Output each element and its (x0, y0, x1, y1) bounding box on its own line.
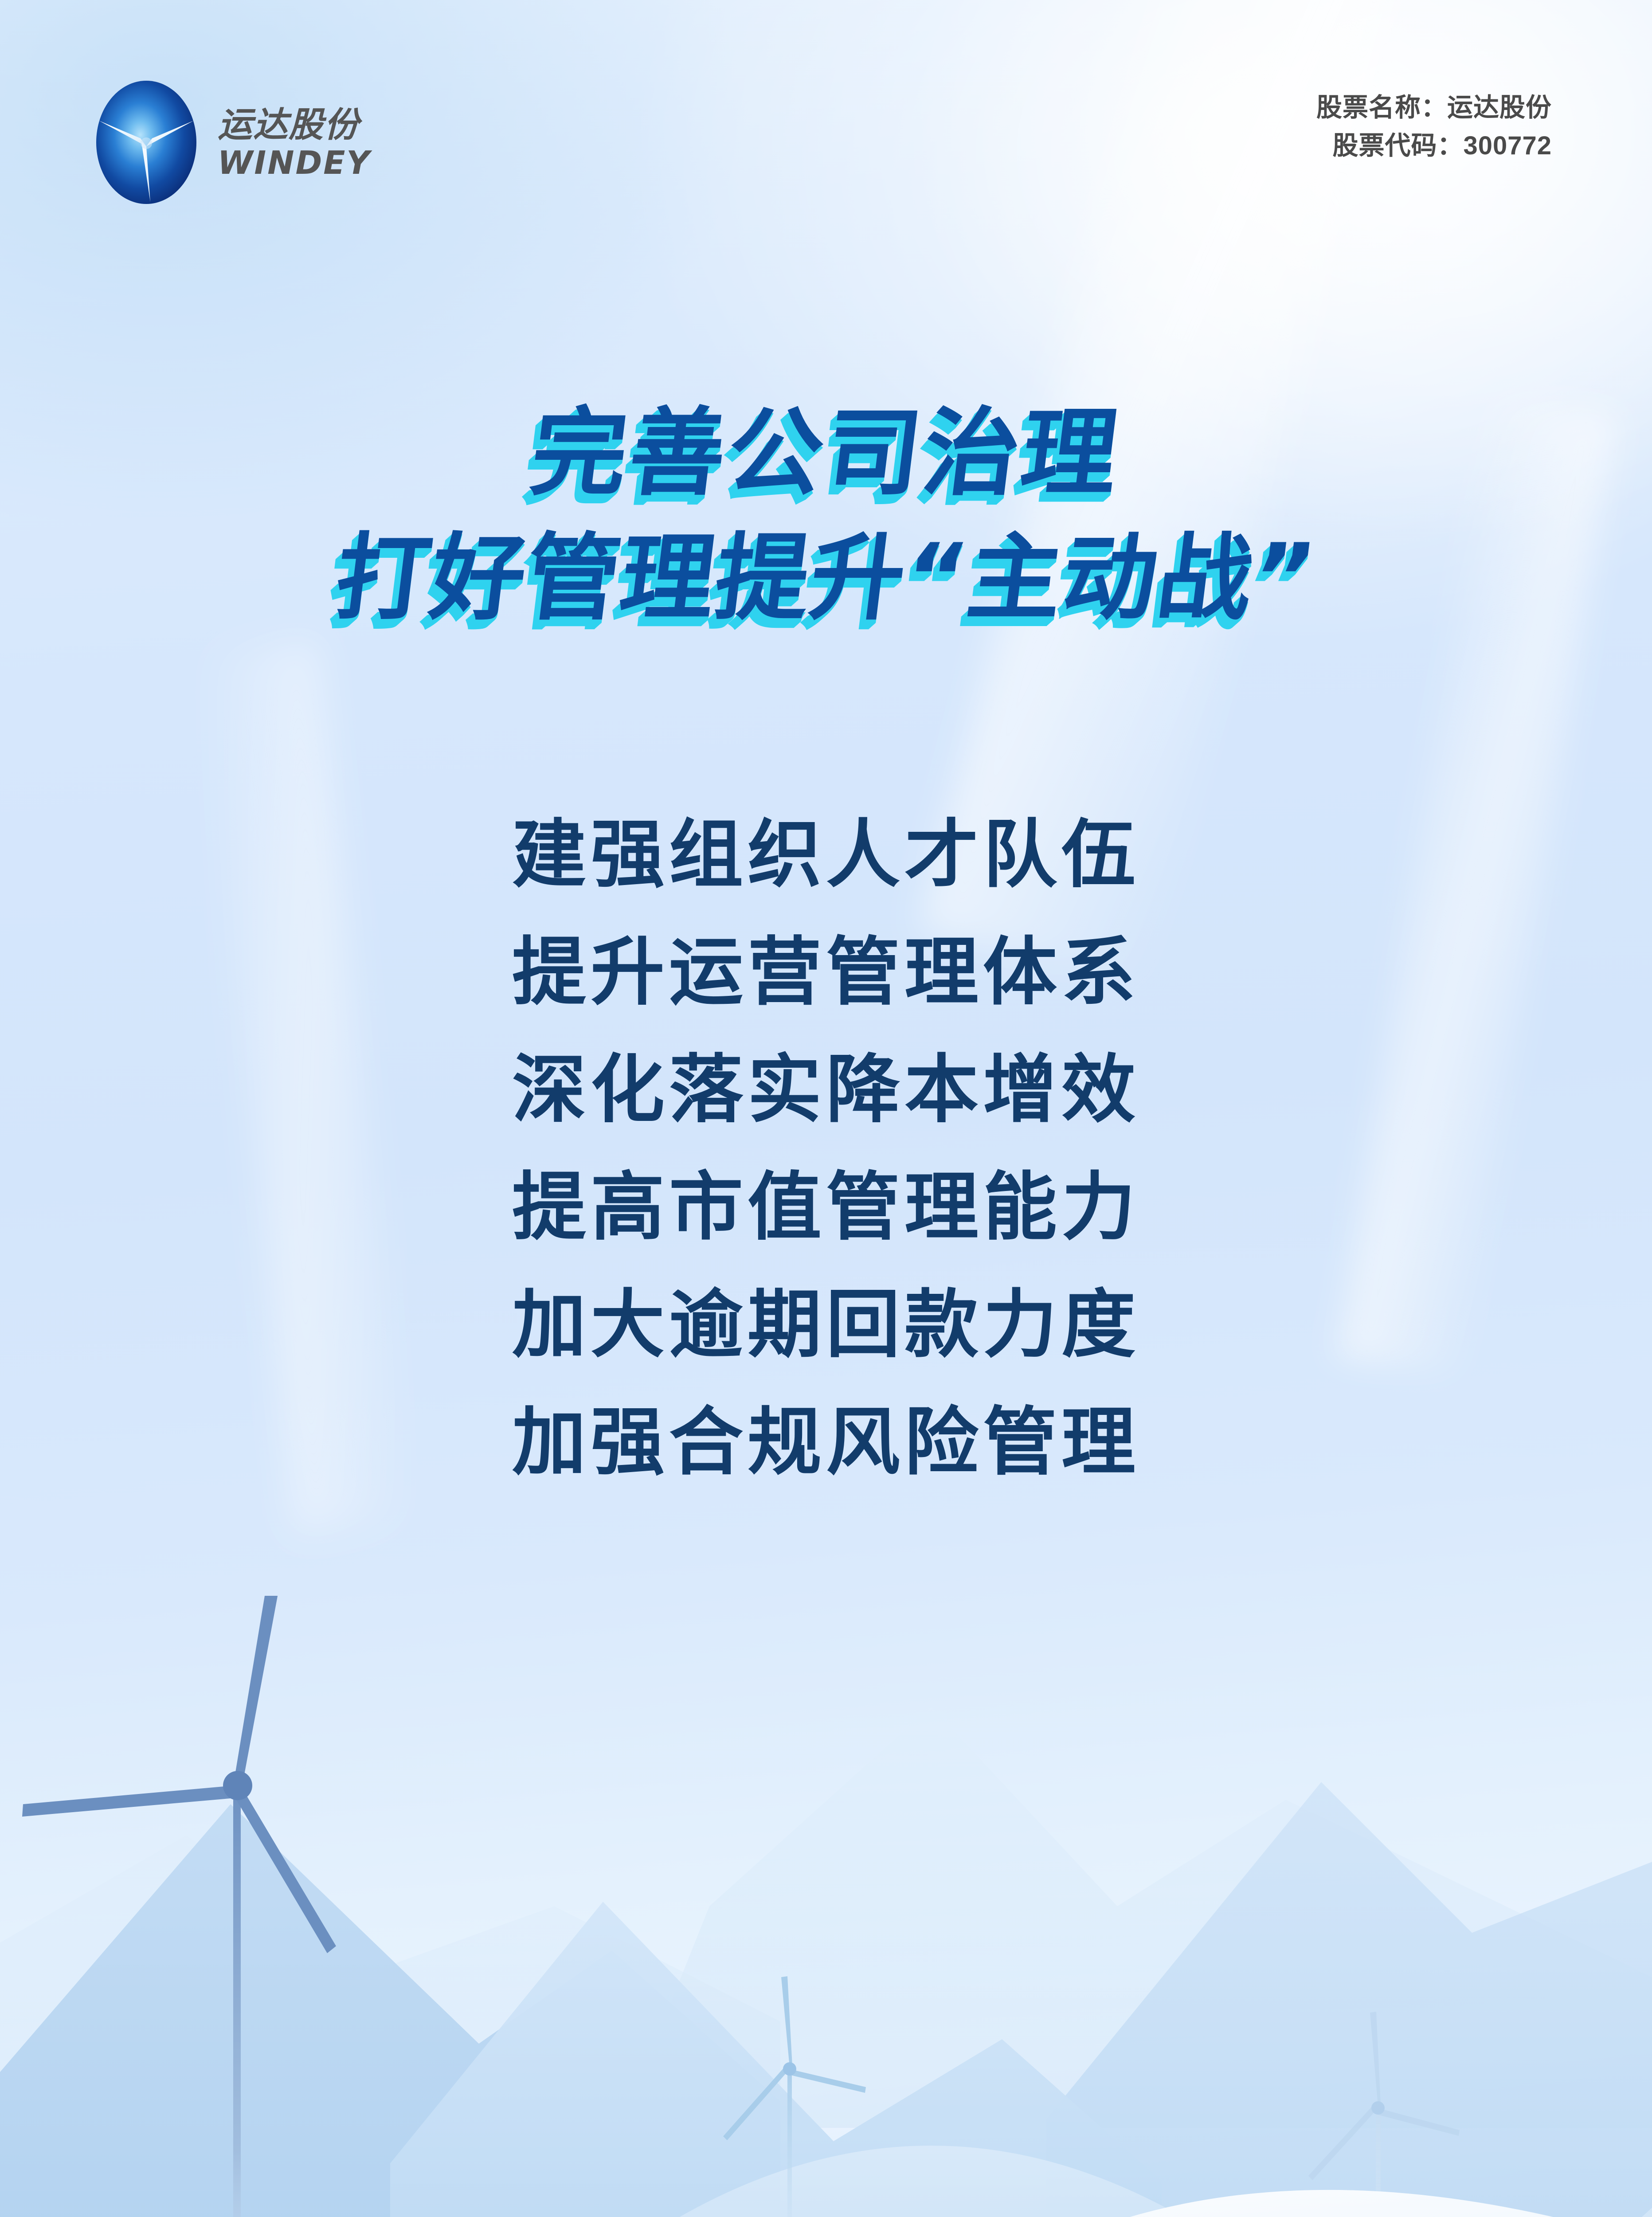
list-item: 建强组织人才队伍 (0, 818, 1652, 936)
wind-turbine-icon (723, 1976, 866, 2217)
stock-info: 股票名称：运达股份 股票代码：300772 (1316, 89, 1552, 165)
title-line-2: 打好管理提升“主动战” (0, 516, 1652, 640)
brand-wordmark: 运达股份 WINDEY (218, 106, 426, 179)
landscape-scene (0, 1596, 1652, 2217)
list-item: 深化落实降本增效 (0, 1053, 1652, 1171)
brand-name-en-icon: WINDEY (218, 145, 426, 179)
landscape-svg (0, 1596, 1652, 2217)
stock-name-line: 股票名称：运达股份 (1316, 89, 1552, 127)
mountain-mid-icon (1046, 1782, 1652, 2217)
list-item: 提高市值管理能力 (0, 1171, 1652, 1288)
brand-name-cn-icon: 运达股份 (218, 106, 426, 143)
poster-root: 运达股份 WINDEY 股票名称：运达股份 股票代码：300772 完善公司治理… (0, 0, 1652, 2217)
initiative-list: 建强组织人才队伍 提升运营管理体系 深化落实降本增效 提高市值管理能力 加大逾期… (0, 818, 1652, 1523)
mountain-main-icon (0, 1804, 780, 2217)
page-title: 完善公司治理 打好管理提升“主动战” (0, 390, 1652, 640)
title-line-1: 完善公司治理 (0, 390, 1652, 516)
arc-streak-icon (0, 0, 488, 451)
windey-rotor-logo-icon (95, 80, 197, 205)
wind-turbine-icon (1308, 2012, 1460, 2217)
brand-logo: 运达股份 WINDEY (95, 80, 426, 205)
svg-text:WINDEY: WINDEY (218, 145, 372, 179)
stock-code-line: 股票代码：300772 (1316, 127, 1552, 165)
svg-text:运达股份: 运达股份 (218, 106, 363, 143)
list-item: 加大逾期回款力度 (0, 1288, 1652, 1406)
wind-turbine-icon (22, 1596, 336, 2217)
mountain-haze-icon (665, 2146, 1652, 2217)
mountain-far-icon (0, 1835, 780, 2172)
mountain-far-icon (621, 1707, 1652, 2128)
list-item: 提升运营管理体系 (0, 936, 1652, 1053)
list-item: 加强合规风险管理 (0, 1406, 1652, 1523)
silk-wave-icon (0, 2190, 1652, 2217)
mountain-second-icon (390, 1902, 1162, 2217)
